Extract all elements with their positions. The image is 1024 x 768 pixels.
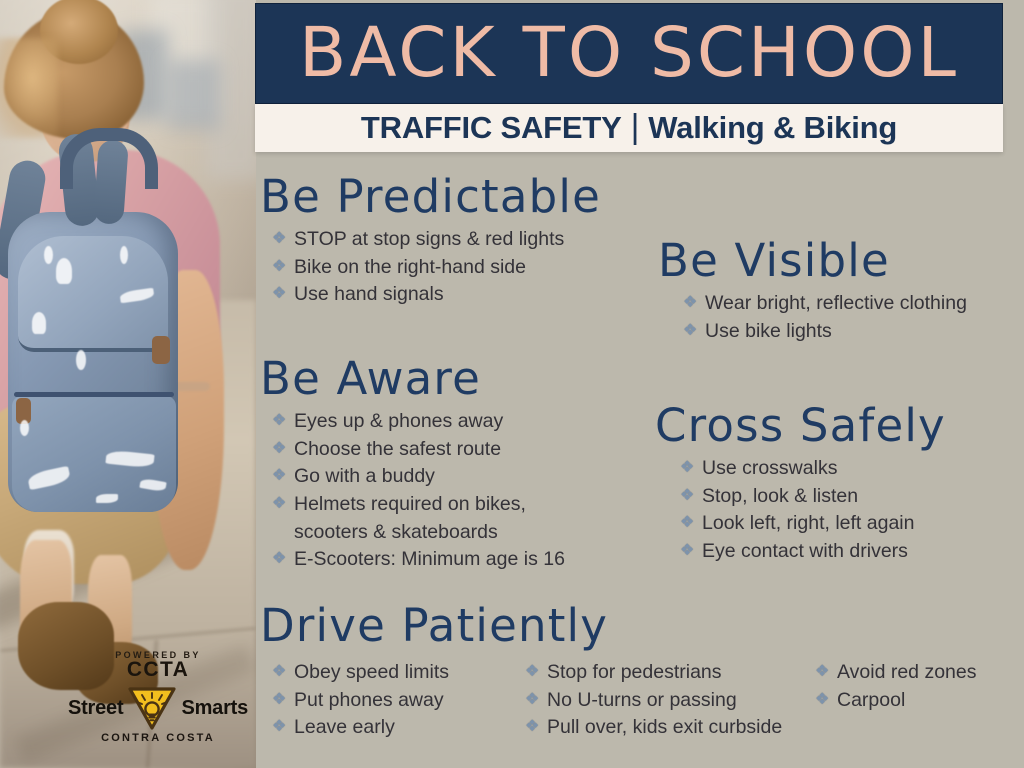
- diamond-bullet-icon: ❖: [525, 714, 547, 740]
- tip-text: Use bike lights: [705, 318, 967, 346]
- drive-column-3: ❖ Avoid red zones ❖ Carpool: [815, 652, 1015, 742]
- diamond-bullet-icon: ❖: [683, 318, 705, 344]
- tip-item: ❖ Carpool: [815, 687, 1015, 715]
- tip-text: Obey speed limits: [294, 659, 525, 687]
- tip-item: ❖ Choose the safest route: [272, 436, 565, 464]
- backpack-print-motif: [20, 420, 29, 436]
- backpack-handle: [60, 128, 158, 189]
- section-be-predictable: Be Predictable ❖ STOP at stop signs & re…: [260, 174, 601, 309]
- tip-text: Leave early: [294, 714, 525, 742]
- tip-item: ❖ Helmets required on bikes,: [272, 491, 565, 519]
- diamond-bullet-icon: ❖: [272, 436, 294, 462]
- backpack-print-motif: [76, 350, 86, 370]
- tip-list: ❖ Wear bright, reflective clothing ❖ Use…: [683, 290, 967, 345]
- diamond-bullet-icon: ❖: [815, 659, 837, 685]
- diamond-bullet-icon: ❖: [272, 408, 294, 434]
- diamond-bullet-icon: ❖: [272, 254, 294, 280]
- backpack-print-motif: [120, 246, 128, 264]
- subtitle-separator: |: [631, 108, 640, 147]
- tip-list: ❖ Use crosswalks ❖ Stop, look & listen ❖…: [680, 455, 946, 566]
- tip-item: ❖ Put phones away: [272, 687, 525, 715]
- section-heading: Cross Safely: [655, 403, 946, 448]
- tip-item: ❖ Wear bright, reflective clothing: [683, 290, 967, 318]
- diamond-bullet-icon: ❖: [272, 546, 294, 572]
- tip-item: ❖ Avoid red zones: [815, 659, 1015, 687]
- tip-text: Eye contact with drivers: [702, 538, 946, 566]
- page-title: BACK TO SCHOOL: [299, 19, 959, 88]
- diamond-bullet-icon: ❖: [680, 455, 702, 481]
- tip-text: Pull over, kids exit curbside: [547, 714, 815, 742]
- tip-item: ❖ Use hand signals: [272, 281, 601, 309]
- tip-text: E-Scooters: Minimum age is 16: [294, 546, 565, 574]
- subtitle: TRAFFIC SAFETY | Walking & Biking: [361, 109, 897, 148]
- photo-blurred-building: [168, 60, 220, 130]
- tips-content: Be Predictable ❖ STOP at stop signs & re…: [255, 160, 1024, 768]
- tip-text: No U-turns or passing: [547, 687, 815, 715]
- section-drive-patiently: Drive Patiently ❖ Obey speed limits ❖ Pu…: [260, 603, 1024, 742]
- tip-list: ❖ Eyes up & phones away ❖ Choose the saf…: [272, 408, 565, 574]
- diamond-bullet-icon: ❖: [815, 687, 837, 713]
- title-band: BACK TO SCHOOL: [255, 3, 1003, 104]
- backpack-zipper-pull: [152, 336, 170, 364]
- tip-text: Bike on the right-hand side: [294, 254, 601, 282]
- drive-column-1: ❖ Obey speed limits ❖ Put phones away ❖ …: [272, 652, 525, 742]
- subtitle-band: TRAFFIC SAFETY | Walking & Biking: [255, 104, 1003, 152]
- tip-item: ❖ Eye contact with drivers: [680, 538, 946, 566]
- tip-item: ❖ No U-turns or passing: [525, 687, 815, 715]
- section-heading: Be Aware: [260, 356, 565, 401]
- diamond-bullet-icon: ❖: [680, 483, 702, 509]
- poster-header: BACK TO SCHOOL TRAFFIC SAFETY | Walking …: [255, 3, 1003, 152]
- diamond-bullet-icon: ❖: [272, 226, 294, 252]
- backpack-print-motif: [32, 312, 46, 334]
- diamond-bullet-icon: ❖: [680, 510, 702, 536]
- diamond-bullet-icon: ❖: [680, 538, 702, 564]
- tip-item: ❖ Stop, look & listen: [680, 483, 946, 511]
- tip-text: Stop, look & listen: [702, 483, 946, 511]
- diamond-bullet-icon: ❖: [272, 281, 294, 307]
- tip-text: Choose the safest route: [294, 436, 565, 464]
- ccta-wordmark: CCTA: [58, 659, 258, 681]
- tip-item: ❖ E-Scooters: Minimum age is 16: [272, 546, 565, 574]
- subtitle-right: Walking & Biking: [648, 110, 897, 146]
- tip-item-continuation: ❖ scooters & skateboards: [272, 519, 565, 547]
- section-cross-safely: Cross Safely ❖ Use crosswalks ❖ Stop, lo…: [655, 403, 946, 566]
- backpack-print-motif: [56, 258, 72, 284]
- diamond-bullet-icon: ❖: [272, 491, 294, 517]
- drive-column-2: ❖ Stop for pedestrians ❖ No U-turns or p…: [525, 652, 815, 742]
- diamond-bullet-icon: ❖: [272, 714, 294, 740]
- tip-item: ❖ Bike on the right-hand side: [272, 254, 601, 282]
- backpack-print-motif: [96, 494, 118, 503]
- tip-text: Use hand signals: [294, 281, 601, 309]
- section-heading: Drive Patiently: [260, 603, 1024, 648]
- tip-item: ❖ Go with a buddy: [272, 463, 565, 491]
- county-label: CONTRA COSTA: [58, 732, 258, 744]
- tip-text: Stop for pedestrians: [547, 659, 815, 687]
- photo-child-hair-wisp: [0, 38, 58, 138]
- tip-text: Carpool: [837, 687, 1015, 715]
- tip-item: ❖ Stop for pedestrians: [525, 659, 815, 687]
- tip-text: Look left, right, left again: [702, 510, 946, 538]
- tip-item: ❖ STOP at stop signs & red lights: [272, 226, 601, 254]
- subtitle-left: TRAFFIC SAFETY: [361, 110, 622, 146]
- tip-list: ❖ Stop for pedestrians ❖ No U-turns or p…: [525, 659, 815, 742]
- section-heading: Be Predictable: [260, 174, 601, 219]
- tip-text: scooters & skateboards: [294, 519, 565, 547]
- sponsor-logo: POWERED BY CCTA Street: [58, 650, 258, 744]
- tip-item: ❖ Use bike lights: [683, 318, 967, 346]
- tip-list: ❖ Obey speed limits ❖ Put phones away ❖ …: [272, 659, 525, 742]
- section-be-visible: Be Visible ❖ Wear bright, reflective clo…: [658, 238, 967, 345]
- tip-text: Helmets required on bikes,: [294, 491, 565, 519]
- diamond-bullet-icon: ❖: [525, 687, 547, 713]
- poster: BACK TO SCHOOL TRAFFIC SAFETY | Walking …: [0, 0, 1024, 768]
- tip-text: Put phones away: [294, 687, 525, 715]
- lightbulb-triangle-icon: [127, 685, 177, 731]
- tip-text: Avoid red zones: [837, 659, 1015, 687]
- section-heading: Be Visible: [658, 238, 967, 283]
- tip-item: ❖ Look left, right, left again: [680, 510, 946, 538]
- tip-text: Use crosswalks: [702, 455, 946, 483]
- tip-text: Eyes up & phones away: [294, 408, 565, 436]
- diamond-bullet-icon: ❖: [525, 659, 547, 685]
- tip-list: ❖ Avoid red zones ❖ Carpool: [815, 659, 1015, 714]
- tip-list: ❖ STOP at stop signs & red lights ❖ Bike…: [272, 226, 601, 309]
- street-smarts-wordmark: Street Smarts: [58, 685, 258, 731]
- tip-item: ❖ Use crosswalks: [680, 455, 946, 483]
- diamond-bullet-icon: ❖: [683, 290, 705, 316]
- diamond-bullet-icon: ❖: [272, 659, 294, 685]
- backpack-print-motif: [44, 246, 53, 264]
- diamond-bullet-icon: ❖: [272, 463, 294, 489]
- backpack-zipper: [14, 392, 174, 397]
- tip-text: Wear bright, reflective clothing: [705, 290, 967, 318]
- diamond-bullet-icon: ❖: [272, 687, 294, 713]
- tip-item: ❖ Leave early: [272, 714, 525, 742]
- tip-text: STOP at stop signs & red lights: [294, 226, 601, 254]
- tip-text: Go with a buddy: [294, 463, 565, 491]
- tip-item: ❖ Pull over, kids exit curbside: [525, 714, 815, 742]
- tip-item: ❖ Eyes up & phones away: [272, 408, 565, 436]
- tip-item: ❖ Obey speed limits: [272, 659, 525, 687]
- drive-columns: ❖ Obey speed limits ❖ Put phones away ❖ …: [260, 652, 1024, 742]
- smarts-word: Smarts: [181, 697, 248, 720]
- street-word: Street: [68, 697, 124, 720]
- section-be-aware: Be Aware ❖ Eyes up & phones away ❖ Choos…: [260, 356, 565, 574]
